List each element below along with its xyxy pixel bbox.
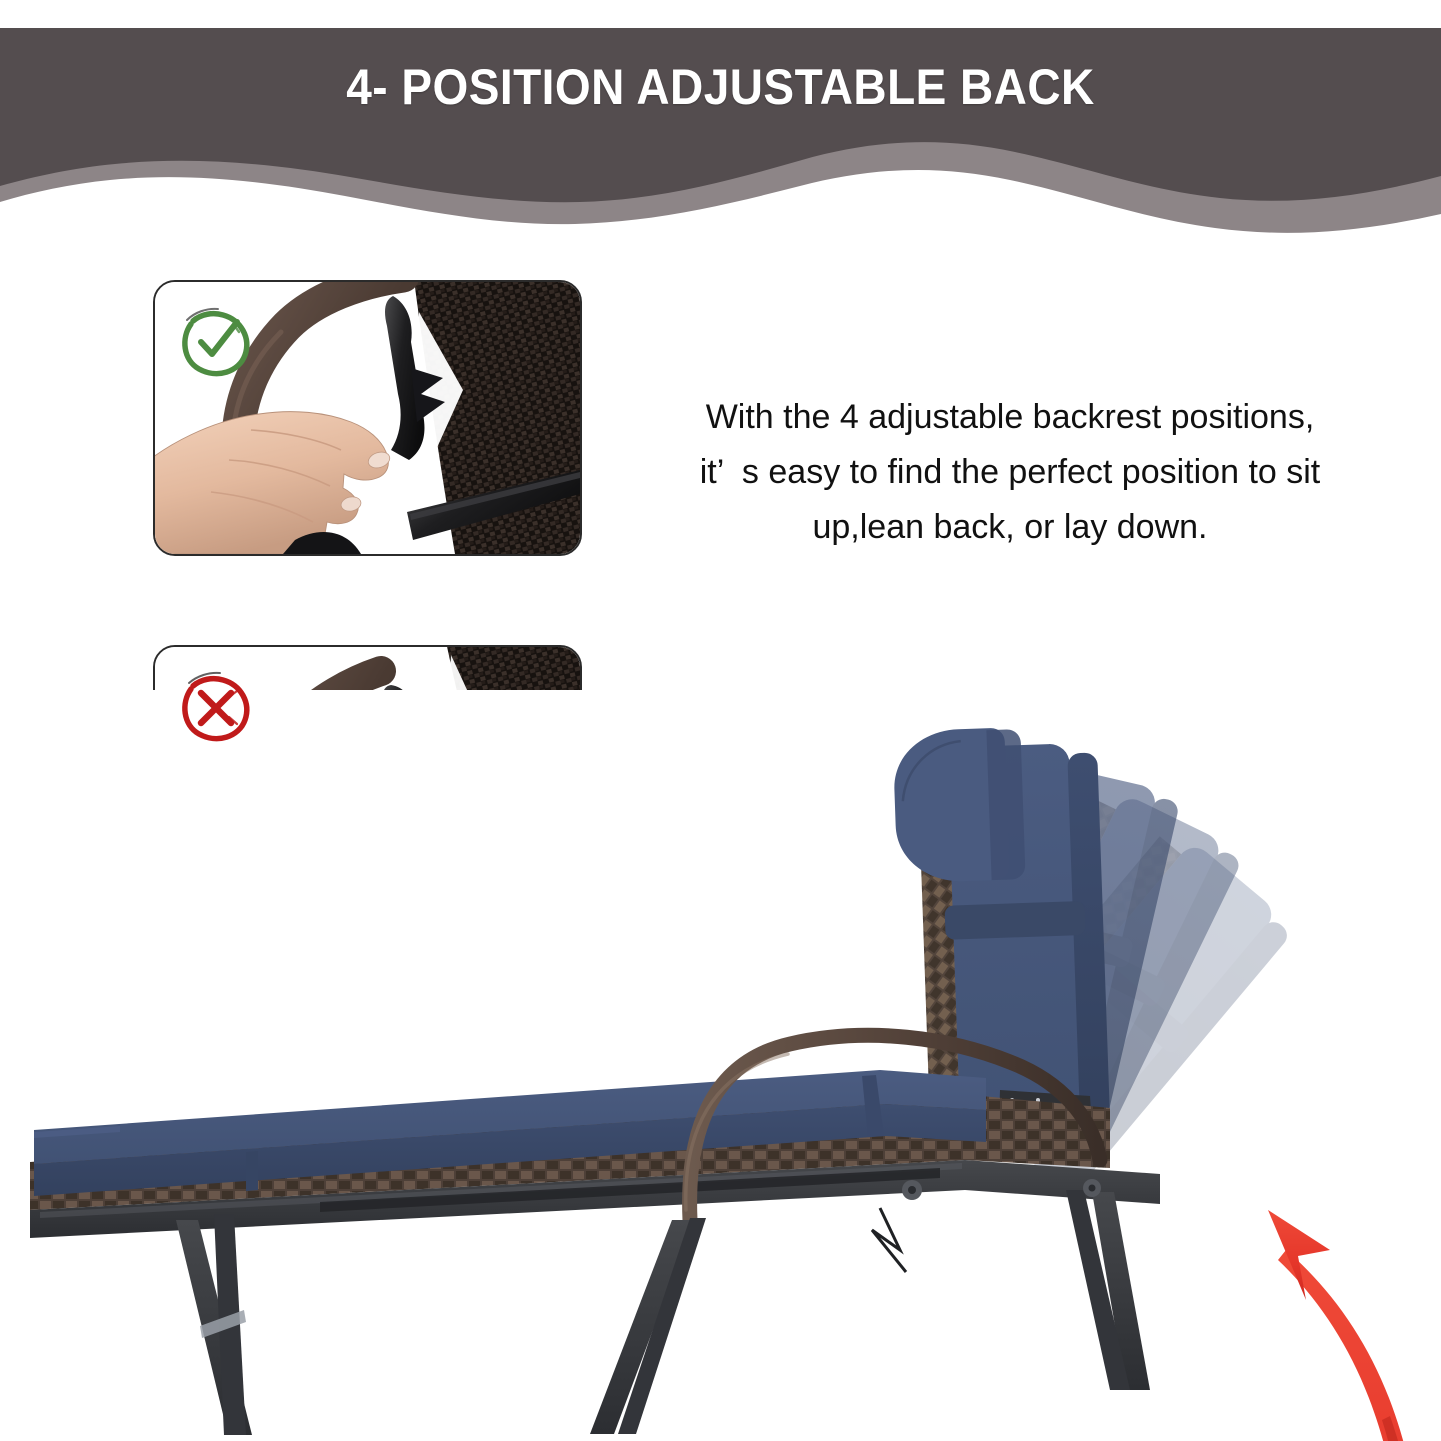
page-title: 4- POSITION ADJUSTABLE BACK [58, 58, 1384, 116]
description-line-2: it’ s easy to find the perfect position … [615, 445, 1405, 500]
header-wave-graphic [0, 0, 1441, 260]
description-line-1: With the 4 adjustable backrest positions… [615, 390, 1405, 445]
product-illustration [0, 690, 1441, 1441]
green-check-circle-icon [177, 302, 255, 380]
header-banner: 4- POSITION ADJUSTABLE BACK [0, 0, 1441, 260]
instruction-card-correct [153, 280, 582, 556]
red-cross-circle-icon [177, 667, 255, 745]
product-infographic-page: 4- POSITION ADJUSTABLE BACK [0, 0, 1441, 1441]
description-text: With the 4 adjustable backrest positions… [615, 390, 1405, 555]
chaise-lounge-graphic [0, 690, 1441, 1441]
description-line-3: up,lean back, or lay down. [615, 500, 1405, 555]
